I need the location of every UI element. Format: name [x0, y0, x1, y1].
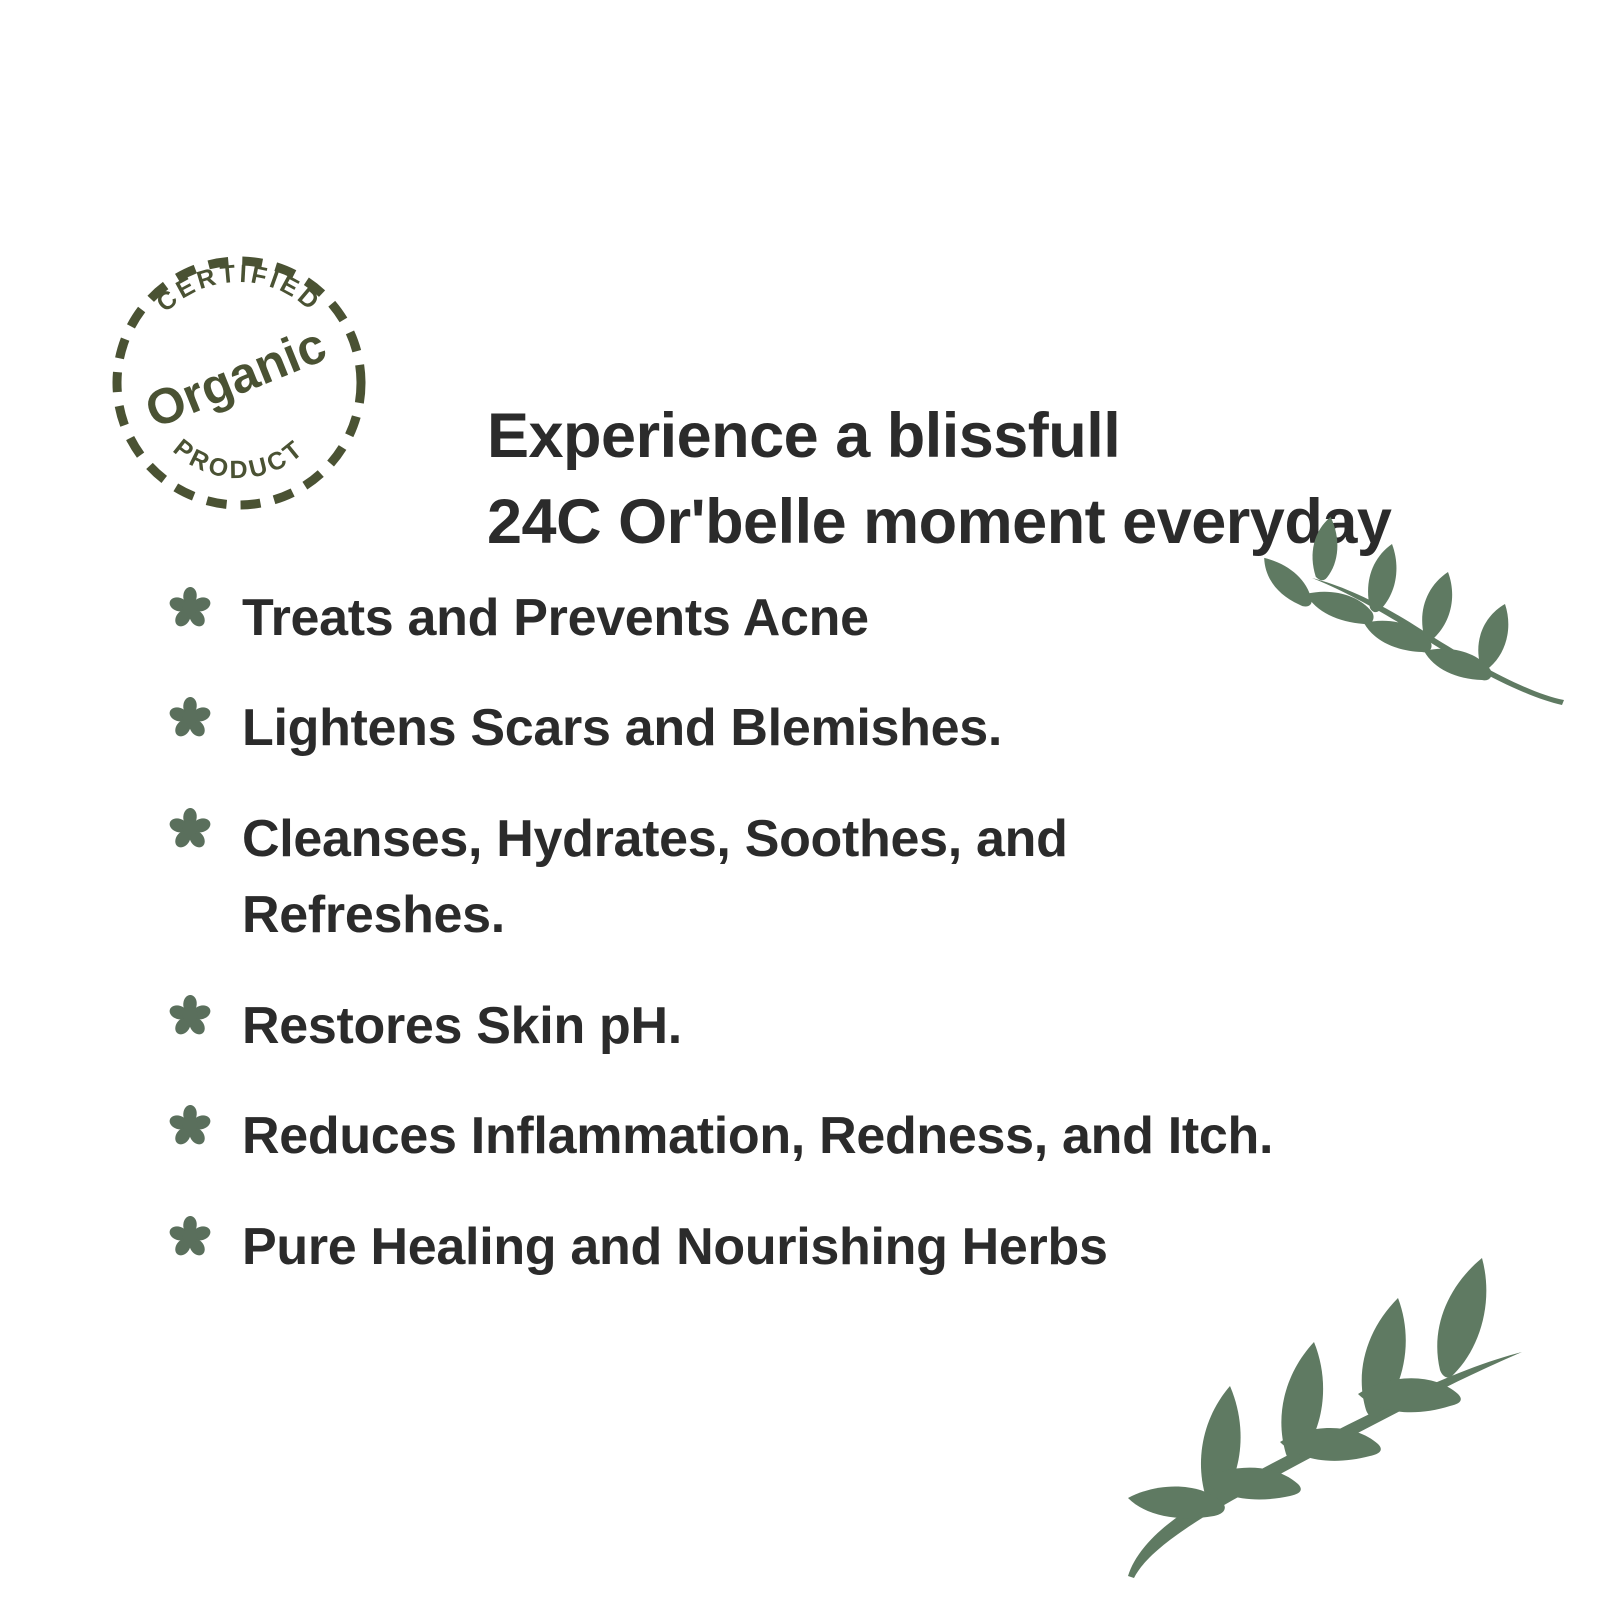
flower-bullet-icon	[168, 801, 212, 867]
list-item: Reduces Inflammation, Redness, and Itch.	[168, 1098, 1548, 1174]
list-item-label: Reduces Inflammation, Redness, and Itch.	[242, 1098, 1273, 1174]
list-item: Pure Healing and Nourishing Herbs	[168, 1209, 1548, 1285]
list-item: Cleanses, Hydrates, Soothes, and Refresh…	[168, 801, 1548, 954]
list-item-label: Treats and Prevents Acne	[242, 580, 869, 656]
page-title: Experience a blissfull 24C Or'belle mome…	[487, 394, 1547, 565]
badge-center-text: Organic	[138, 316, 334, 439]
leaf-branch-bottom-right-icon	[1118, 1238, 1588, 1588]
list-item-label: Restores Skin pH.	[242, 988, 682, 1064]
benefits-list: Treats and Prevents Acne Lightens Scars …	[168, 580, 1548, 1285]
badge-bottom-arc-text: PRODUCT	[168, 434, 310, 484]
flower-bullet-icon	[168, 988, 212, 1054]
list-item-label: Lightens Scars and Blemishes.	[242, 690, 1002, 766]
list-item: Treats and Prevents Acne	[168, 580, 1548, 656]
promo-poster: CERTIFIED PRODUCT Organic Experience a b…	[0, 0, 1600, 1600]
headline-line-2: 24C Or'belle moment everyday	[487, 480, 1547, 566]
flower-bullet-icon	[168, 580, 212, 646]
certified-organic-badge: CERTIFIED PRODUCT Organic	[108, 252, 370, 514]
list-item: Restores Skin pH.	[168, 988, 1548, 1064]
list-item-label: Pure Healing and Nourishing Herbs	[242, 1209, 1108, 1285]
flower-bullet-icon	[168, 1209, 212, 1275]
list-item: Lightens Scars and Blemishes.	[168, 690, 1548, 766]
list-item-label: Cleanses, Hydrates, Soothes, and Refresh…	[242, 801, 1302, 954]
headline-line-1: Experience a blissfull	[487, 394, 1547, 480]
badge-top-arc-text: CERTIFIED	[151, 260, 327, 318]
flower-bullet-icon	[168, 1098, 212, 1164]
flower-bullet-icon	[168, 690, 212, 756]
